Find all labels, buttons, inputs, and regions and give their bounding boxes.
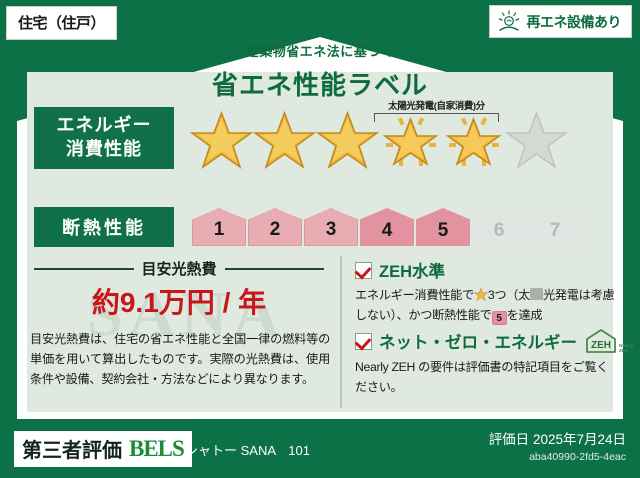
label-uid: aba40990-2fd5-4eac	[489, 451, 626, 463]
grade-2: 2	[248, 208, 302, 246]
page-title: 省エネ性能ラベル	[0, 65, 640, 102]
zeh-level-block: ZEH水準 エネルギー消費性能で3つ（太光発電は考慮しない）、かつ断熱性能で5を…	[355, 258, 617, 326]
third-party-label: 第三者評価	[22, 434, 122, 463]
column-divider	[340, 256, 342, 408]
zeh-level-body: エネルギー消費性能で3つ（太光発電は考慮しない）、かつ断熱性能で5を達成	[355, 286, 617, 326]
grade-7: 7	[528, 208, 582, 246]
housing-type-tab: 住宅（住戸）	[6, 6, 117, 40]
net-zero-header: ネット・ゼロ・エネルギー ZEH Nearly ZEH	[355, 328, 617, 354]
rule-right	[225, 268, 325, 270]
rule-left	[34, 268, 134, 270]
grade-1: 1	[192, 208, 246, 246]
footer: 第三者評価 BELS シャトー SANA 101 評価日 2025年7月24日 …	[0, 419, 640, 478]
check-icon-net-zero	[355, 333, 372, 350]
solar-annotation: 太陽光発電(自家消費)分	[374, 98, 499, 122]
energy-cost-value: 約9.1万円 / 年	[34, 281, 324, 321]
zeh-logo: ZEH Nearly ZEH	[584, 328, 633, 354]
bels-certification-badge: 第三者評価 BELS	[14, 431, 192, 467]
zeh-level-heading: ZEH水準	[379, 258, 445, 282]
insulation-grade-scale: 1 2 3 4 5 6 7	[192, 208, 582, 246]
grade-3: 3	[304, 208, 358, 246]
energy-performance-label: エネルギー 消費性能	[34, 107, 174, 169]
grade-6: 6	[472, 208, 526, 246]
inline-grade-badge: 5	[492, 311, 507, 325]
renewable-equipment-badge: 再エネ設備あり	[489, 5, 633, 38]
building-name: シャトー SANA 101	[185, 440, 310, 459]
inline-star-icon	[474, 287, 488, 301]
evaluation-date: 評価日 2025年7月24日	[489, 428, 626, 448]
grade-5: 5	[416, 208, 470, 246]
bels-wordmark: BELS	[129, 436, 184, 462]
net-zero-heading: ネット・ゼロ・エネルギー	[379, 329, 577, 353]
grade-4: 4	[360, 208, 414, 246]
net-zero-body: Nearly ZEH の要件は評価書の特記項目をご覧ください。	[355, 358, 617, 398]
energy-performance-label: SANA 住宅（住戸） 再エネ設備あり 建築物省エネ法に基づく	[0, 0, 640, 478]
footer-meta: 評価日 2025年7月24日 aba40990-2fd5-4eac	[489, 428, 626, 463]
insulation-performance-label: 断熱性能	[34, 207, 174, 247]
energy-cost-note: 目安光熱費は、住宅の省エネ性能と全国一律の燃料等の単価を用いて算出したものです。…	[30, 330, 330, 389]
zeh-logo-subtext: Nearly ZEH	[619, 344, 633, 354]
solar-annotation-text: 太陽光発電(自家消費)分	[374, 98, 499, 112]
net-zero-energy-block: ネット・ゼロ・エネルギー ZEH Nearly ZEH Nearly ZEH の…	[355, 328, 617, 398]
solar-bracket-line	[374, 113, 499, 122]
star-6-empty	[505, 107, 568, 169]
insulation-performance-row: 断熱性能 1 2 3 4 5 6 7	[34, 207, 582, 247]
title-block: 建築物省エネ法に基づく 省エネ性能ラベル	[0, 41, 640, 102]
svg-text:ZEH: ZEH	[591, 340, 611, 351]
redacted-char-box	[530, 288, 543, 300]
check-icon-zeh-level	[355, 262, 372, 279]
renewable-badge-label: 再エネ設備あり	[527, 12, 622, 32]
sun-solar-icon	[496, 10, 522, 34]
star-2	[253, 107, 316, 169]
zeh-level-header: ZEH水準	[355, 258, 617, 282]
star-3	[316, 107, 379, 169]
title-subtitle: 建築物省エネ法に基づく	[0, 41, 640, 60]
star-1	[190, 107, 253, 169]
energy-cost-heading: 目安光熱費	[34, 258, 324, 279]
